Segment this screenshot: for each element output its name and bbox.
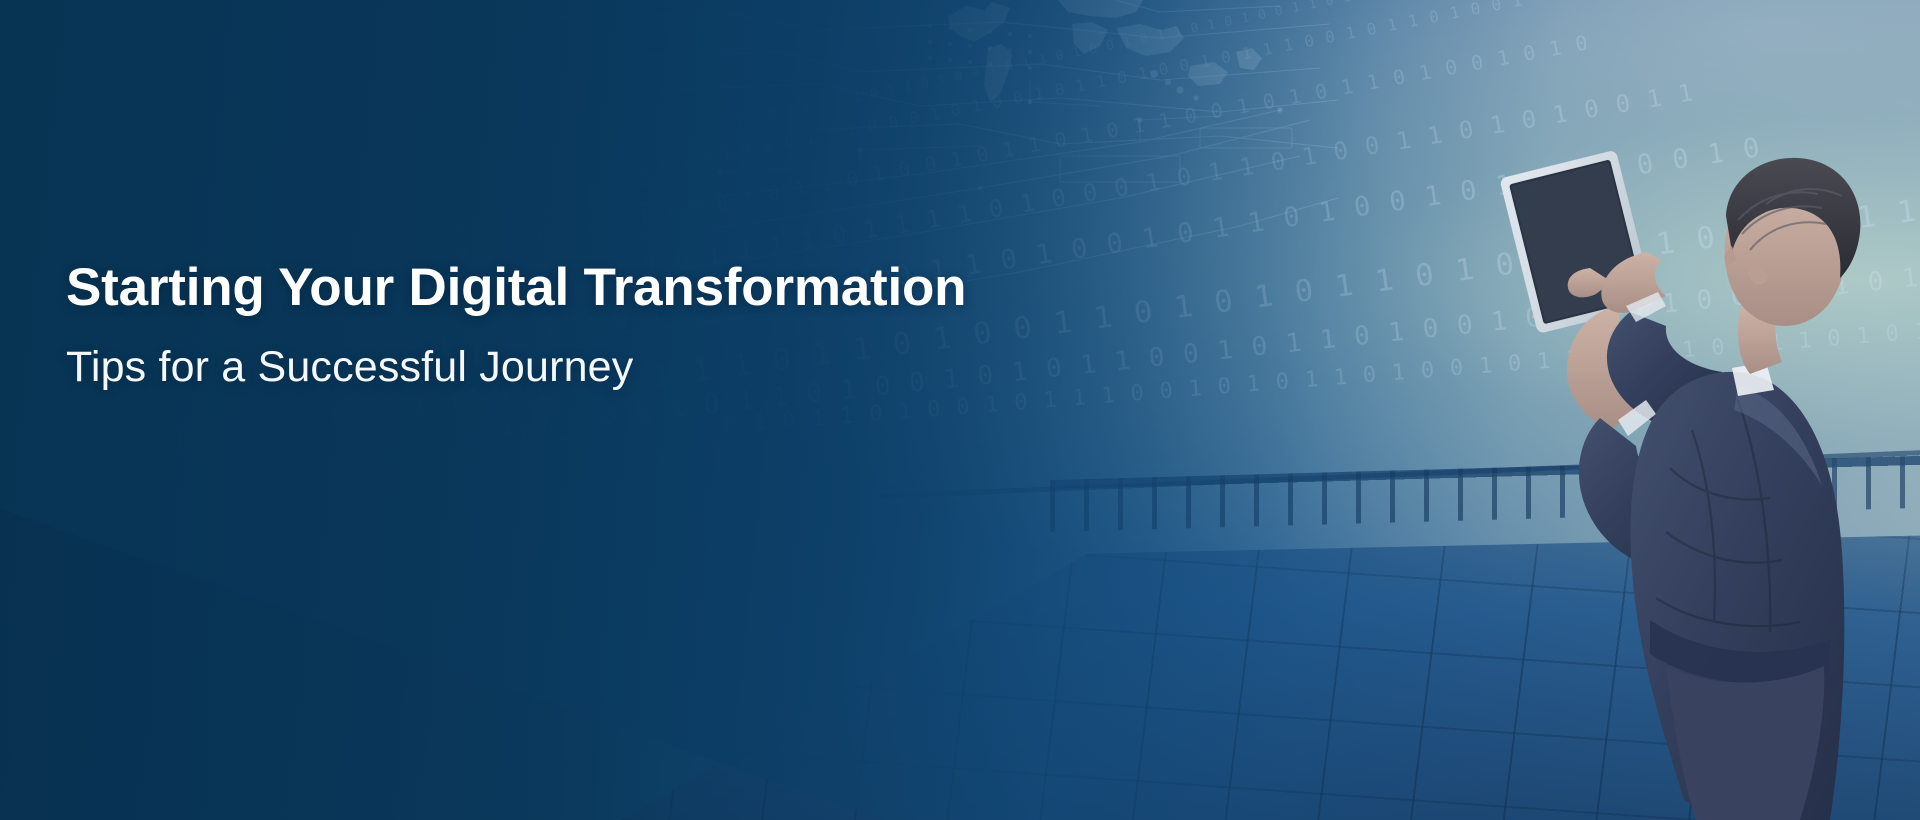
hero-copy-block: Starting Your Digital Transformation Tip… <box>66 258 1066 393</box>
page-title: Starting Your Digital Transformation <box>66 258 1066 317</box>
page-subtitle: Tips for a Successful Journey <box>66 343 1066 393</box>
hero-banner: 1 0 1 1 0 0 1 0 0 1 0 1 1 1 1 0 1 1 0 1 … <box>0 0 1920 820</box>
